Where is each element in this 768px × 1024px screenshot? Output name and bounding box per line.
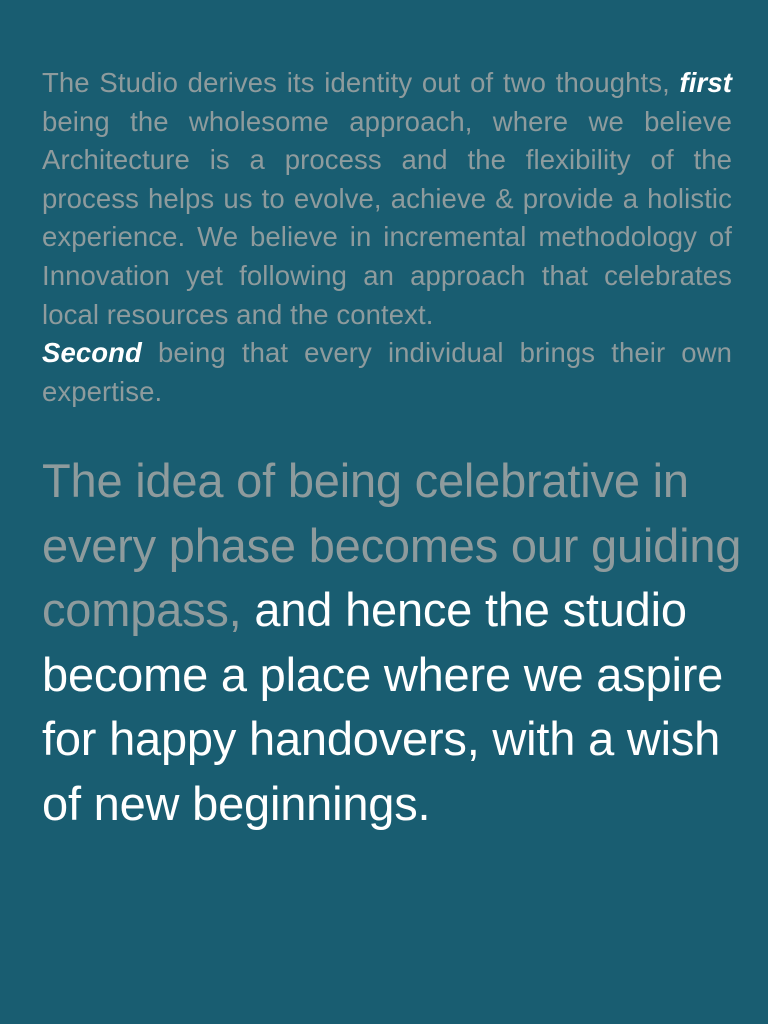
intro-emphasis-second: Second — [42, 337, 142, 368]
slide-root: The Studio derives its identity out of t… — [0, 0, 768, 1024]
content-column: The Studio derives its identity out of t… — [42, 64, 732, 836]
headline-statement: The idea of being celebrative in every p… — [42, 411, 742, 836]
intro-text-segment-2: being the wholesome approach, where we b… — [42, 106, 732, 330]
intro-emphasis-first: first — [680, 67, 732, 98]
intro-text-segment-1: The Studio derives its identity out of t… — [42, 67, 680, 98]
intro-paragraph: The Studio derives its identity out of t… — [42, 64, 732, 411]
intro-text-segment-3: being that every individual brings their… — [42, 337, 732, 407]
